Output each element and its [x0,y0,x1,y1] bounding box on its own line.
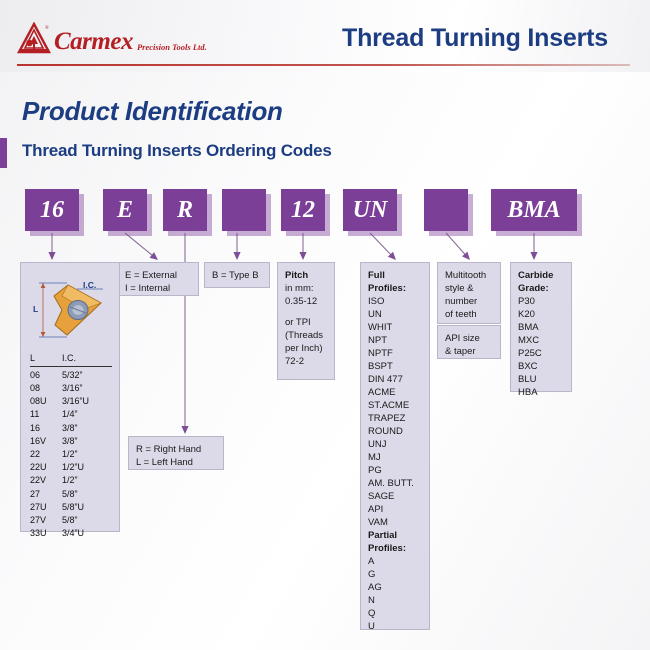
connector-un-to-profiles [370,233,396,260]
info-line: ISO [368,295,422,308]
info-heading: Pitch [285,269,327,282]
arrow-head [181,426,188,434]
connector-blank-to-multi [446,233,470,260]
arrow-head [299,252,306,260]
info-heading: Carbide [518,269,564,282]
cell-l: 27U [30,501,62,514]
info-line: E = External [125,269,191,282]
cell-ic: 5/8”U [62,501,112,514]
info-line: B = Type B [212,269,262,282]
connector-12-to-pitch [299,233,306,260]
info-line: BSPT [368,360,422,373]
info-line: A [368,555,422,568]
code-box-un[interactable]: UN [343,189,397,231]
info-box-profiles: FullProfiles:ISOUNWHITNPTNPTFBSPTDIN 477… [360,262,430,630]
table-row: 27V5/8” [30,514,112,527]
info-line: API [368,503,422,516]
info-line: P25C [518,347,564,360]
connector-16-to-insert [48,233,55,260]
info-line: UNJ [368,438,422,451]
table-row: 065/32” [30,369,112,382]
cell-l: 22V [30,474,62,487]
code-box-bma[interactable]: BMA [491,189,577,231]
cell-l: 27 [30,488,62,501]
connector-blank-to-typeb [233,233,240,260]
cell-l: 11 [30,408,62,421]
info-line: ROUND [368,425,422,438]
info-box-hand-orientation: R = Right HandL = Left Hand [128,436,224,470]
dimension-label-ic: I.C. [83,280,96,290]
info-heading: Grade: [518,282,564,295]
info-line: of teeth [445,308,493,321]
info-line: NPTF [368,347,422,360]
info-box-pitch: Pitchin mm:0.35-12or TPI(Threadsper Inch… [277,262,335,380]
cell-l: 27V [30,514,62,527]
info-box-api-size: API size& taper [437,325,501,359]
info-line: Multitooth [445,269,493,282]
cell-ic: 5/8” [62,514,112,527]
info-line: SAGE [368,490,422,503]
info-line: BLU [518,373,564,386]
info-line: N [368,594,422,607]
info-line: DIN 477 [368,373,422,386]
code-box-r[interactable]: R [163,189,207,231]
table-row: 221/2” [30,448,112,461]
info-line: AM. BUTT. [368,477,422,490]
code-box-16[interactable]: 16 [25,189,79,231]
info-line: or TPI [285,316,327,329]
table-row: 275/8” [30,488,112,501]
info-heading: Profiles: [368,282,422,295]
cell-l: 22U [30,461,62,474]
info-line: ST.ACME [368,399,422,412]
cell-ic: 3/16” [62,382,112,395]
info-line: 0.35-12 [285,295,327,308]
info-line: Q [368,607,422,620]
info-heading: Profiles: [368,542,422,555]
info-line: NPT [368,334,422,347]
info-line: MJ [368,451,422,464]
table-row: 163/8” [30,422,112,435]
info-box-type-b: B = Type B [204,262,270,288]
table-row: 08U3/16”U [30,395,112,408]
cell-l: 08 [30,382,62,395]
info-line: number [445,295,493,308]
cell-l: 06 [30,369,62,382]
info-line: BXC [518,360,564,373]
cell-ic: 3/8” [62,435,112,448]
code-box-blank-3[interactable] [222,189,266,231]
info-line: API size [445,332,493,345]
table-row: 083/16” [30,382,112,395]
info-box-multitooth: Multitoothstyle &numberof teeth [437,262,501,324]
cell-ic: 5/8” [62,488,112,501]
info-line: WHIT [368,321,422,334]
cell-l: 22 [30,448,62,461]
size-table-body: 065/32”083/16”08U3/16”U111/4”163/8”16V3/… [30,369,112,541]
cell-ic: 3/8” [62,422,112,435]
arrow-head [150,252,158,260]
spacer [285,308,327,316]
connector-bma-to-carbide [530,233,537,260]
table-header-ic: I.C. [62,352,76,365]
info-line: PG [368,464,422,477]
dimension-label-l: L [33,304,38,314]
info-line: R = Right Hand [136,443,216,456]
cell-l: 33U [30,527,62,540]
insert-figure: L I.C. [21,263,121,351]
info-line: I = Internal [125,282,191,295]
code-box-blank-6[interactable] [424,189,468,231]
table-row: 16V3/8” [30,435,112,448]
page-root: ® Carmex Precision Tools Ltd. Thread Tur… [0,0,650,650]
cell-ic: 3/16”U [62,395,112,408]
info-line: 72-2 [285,355,327,368]
cell-ic: 5/32” [62,369,112,382]
info-line: MXC [518,334,564,347]
info-line: HBA [518,386,564,399]
info-line: AG [368,581,422,594]
info-heading: Full [368,269,422,282]
size-table: L I.C. 065/32”083/16”08U3/16”U111/4”163/… [30,352,112,540]
info-line: BMA [518,321,564,334]
info-line: G [368,568,422,581]
cell-ic: 3/4”U [62,527,112,540]
table-row: 22V1/2” [30,474,112,487]
cell-l: 16V [30,435,62,448]
code-box-12[interactable]: 12 [281,189,325,231]
info-line: UN [368,308,422,321]
info-line: per Inch) [285,342,327,355]
arrow-head [233,252,240,260]
table-row: 111/4” [30,408,112,421]
info-box-carbide-grade: CarbideGrade:P30K20BMAMXCP25CBXCBLUHBA [510,262,572,392]
info-line: VAM [368,516,422,529]
cell-ic: 1/4” [62,408,112,421]
info-line: (Threads [285,329,327,342]
info-line: U [368,620,422,633]
arrow-head [530,252,537,260]
arrow-head [48,252,55,260]
info-line: & taper [445,345,493,358]
info-line: K20 [518,308,564,321]
cell-l: 08U [30,395,62,408]
code-box-e[interactable]: E [103,189,147,231]
table-header-l: L [30,352,35,365]
cell-ic: 1/2” [62,474,112,487]
info-line: ACME [368,386,422,399]
table-row: 22U1/2”U [30,461,112,474]
info-line: L = Left Hand [136,456,216,469]
info-box-external-internal: E = ExternalI = Internal [117,262,199,296]
info-heading: Partial [368,529,422,542]
cell-ic: 1/2”U [62,461,112,474]
table-row: 33U3/4”U [30,527,112,540]
info-line: TRAPEZ [368,412,422,425]
cell-ic: 1/2” [62,448,112,461]
connector-e-to-external [125,233,158,260]
table-row: 27U5/8”U [30,501,112,514]
cell-l: 16 [30,422,62,435]
info-line: style & [445,282,493,295]
info-line: in mm: [285,282,327,295]
table-header-row: L I.C. [30,352,112,369]
info-line: P30 [518,295,564,308]
